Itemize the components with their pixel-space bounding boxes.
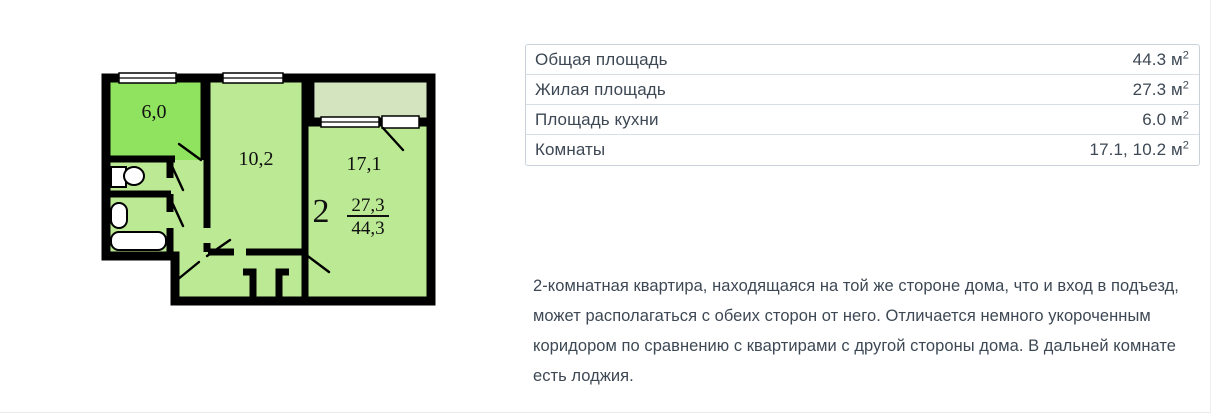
spec-label-kitchen-area: Площадь кухни: [535, 110, 659, 130]
floor-plan-svg: 6,0 10,2 17,1 2 27,3 44,3: [93, 60, 443, 315]
spec-value-rooms-text: 17.1, 10.2 м: [1090, 140, 1183, 159]
spec-label-rooms: Комнаты: [535, 140, 605, 160]
balcony-door[interactable]: [382, 116, 419, 128]
description-text: 2-комнатная квартира, находящаяся на той…: [533, 271, 1193, 391]
spec-value-rooms: 17.1, 10.2 м2: [1090, 140, 1189, 160]
total-area-label: 44,3: [351, 218, 384, 239]
sink-icon: [111, 203, 127, 228]
specs-table: Общая площадь 44.3 м2 Жилая площадь 27.3…: [525, 44, 1200, 166]
living-area-label: 27,3: [351, 195, 384, 216]
room-large-area-label: 17,1: [347, 153, 382, 175]
spec-value-total-area: 44.3 м2: [1133, 50, 1189, 70]
unit-superscript: 2: [1183, 109, 1189, 121]
spec-value-living-area-text: 27.3 м: [1133, 80, 1183, 99]
unit-superscript: 2: [1183, 139, 1189, 151]
floor-plan: 6,0 10,2 17,1 2 27,3 44,3: [93, 60, 443, 315]
table-row: Жилая площадь 27.3 м2: [526, 75, 1199, 105]
rooms-count-label: 2: [313, 193, 330, 230]
table-row: Комнаты 17.1, 10.2 м2: [526, 135, 1199, 165]
page-root: 6,0 10,2 17,1 2 27,3 44,3 Общая площадь …: [0, 0, 1211, 413]
bathtub-icon: [111, 232, 166, 250]
spec-value-total-area-text: 44.3 м: [1133, 50, 1183, 69]
toilet-bowl-icon: [124, 167, 144, 185]
room-small-area-label: 10,2: [239, 148, 274, 170]
spec-value-living-area: 27.3 м2: [1133, 80, 1189, 100]
unit-superscript: 2: [1183, 79, 1189, 91]
table-row: Площадь кухни 6.0 м2: [526, 105, 1199, 135]
spec-label-living-area: Жилая площадь: [535, 80, 666, 100]
unit-superscript: 2: [1183, 49, 1189, 61]
table-row: Общая площадь 44.3 м2: [526, 45, 1199, 75]
spec-label-total-area: Общая площадь: [535, 50, 668, 70]
spec-value-kitchen-area: 6.0 м2: [1142, 110, 1189, 130]
spec-value-kitchen-area-text: 6.0 м: [1142, 110, 1183, 129]
kitchen-area-label: 6,0: [142, 101, 167, 123]
